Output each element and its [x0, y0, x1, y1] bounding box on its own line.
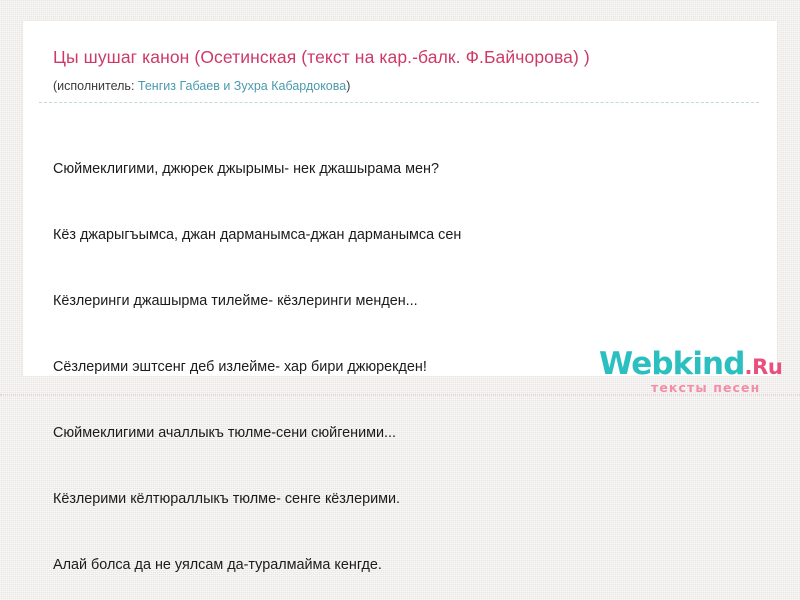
site-logo[interactable]: Webkind.Ru тексты песен: [599, 349, 795, 393]
lyric-line: Кёзлерими кёлтюраллыкъ тюлме- сенге кёзл…: [53, 488, 761, 510]
lyrics-card: Цы шушаг канон (Осетинская (текст на кар…: [22, 20, 778, 377]
lyric-line: Кёз джарыгъымса, джан дарманымса-джан да…: [53, 224, 761, 246]
page-divider-secondary: [0, 395, 800, 396]
site-logo-brand: Webkind: [599, 346, 745, 382]
performer-link[interactable]: Тенгиз Габаев и Зухра Кабардокова: [138, 79, 346, 93]
performer-close-paren: ): [346, 79, 350, 93]
lyric-line: Сюймеклигими, джюрек джырымы- нек джашыр…: [53, 158, 761, 180]
lyric-line: Алай болса да не уялсам да-туралмайма ке…: [53, 554, 761, 576]
page-title: Цы шушаг канон (Осетинская (текст на кар…: [39, 37, 639, 71]
performer-label: (исполнитель:: [53, 79, 134, 93]
site-logo-wordmark: Webkind.Ru: [599, 349, 795, 383]
performer-line: (исполнитель: Тенгиз Габаев и Зухра Каба…: [39, 71, 759, 103]
site-logo-tld: .Ru: [745, 355, 783, 379]
lyric-line: Сюймеклигими ачаллыкъ тюлме-сени сюйгени…: [53, 422, 761, 444]
lyric-line: Кёзлеринги джашырма тилейме- кёзлеринги …: [53, 290, 761, 312]
